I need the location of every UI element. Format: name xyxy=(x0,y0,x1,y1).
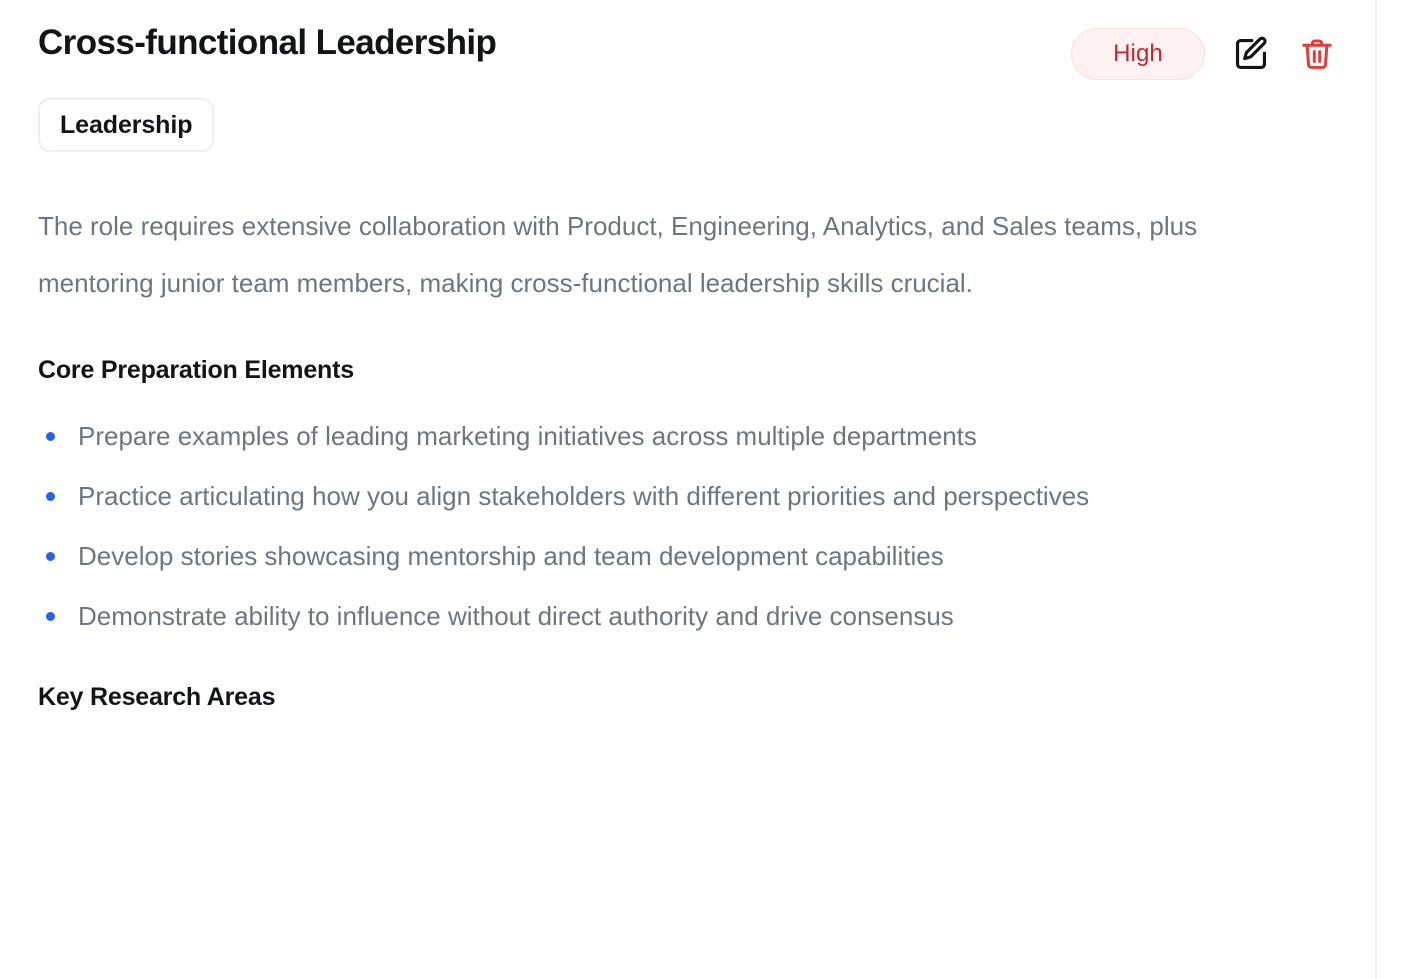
section-heading-key-research-areas: Key Research Areas xyxy=(38,683,1337,712)
edit-button[interactable] xyxy=(1231,34,1271,74)
square-pen-icon xyxy=(1232,35,1270,73)
header-actions: High xyxy=(1071,22,1337,80)
core-preparation-elements-list: Prepare examples of leading marketing in… xyxy=(38,411,1337,641)
bullet-dot-icon xyxy=(46,552,55,561)
detail-header: Cross-functional Leadership High xyxy=(38,22,1337,80)
list-item-text: Develop stories showcasing mentorship an… xyxy=(78,541,944,571)
list-item-text: Practice articulating how you align stak… xyxy=(78,481,1089,511)
bullet-dot-icon xyxy=(46,432,55,441)
category-tag[interactable]: Leadership xyxy=(38,98,214,152)
category-tag-row: Leadership xyxy=(38,98,1337,152)
trash-icon xyxy=(1299,36,1335,72)
list-item-text: Prepare examples of leading marketing in… xyxy=(78,421,977,451)
list-item-text: Demonstrate ability to influence without… xyxy=(78,601,954,631)
list-item: Practice articulating how you align stak… xyxy=(38,471,1306,521)
list-item: Develop stories showcasing mentorship an… xyxy=(38,531,1306,581)
page-title: Cross-functional Leadership xyxy=(38,22,496,63)
section-heading-core-preparation-elements: Core Preparation Elements xyxy=(38,356,1337,385)
detail-panel: Cross-functional Leadership High xyxy=(0,0,1377,979)
detail-panel-content: Cross-functional Leadership High xyxy=(0,0,1375,712)
bullet-dot-icon xyxy=(46,612,55,621)
list-item: Demonstrate ability to influence without… xyxy=(38,591,1306,641)
list-item: Prepare examples of leading marketing in… xyxy=(38,411,1306,461)
bullet-dot-icon xyxy=(46,492,55,501)
description-text: The role requires extensive collaboratio… xyxy=(38,198,1263,312)
priority-badge[interactable]: High xyxy=(1071,28,1205,80)
delete-button[interactable] xyxy=(1297,34,1337,74)
